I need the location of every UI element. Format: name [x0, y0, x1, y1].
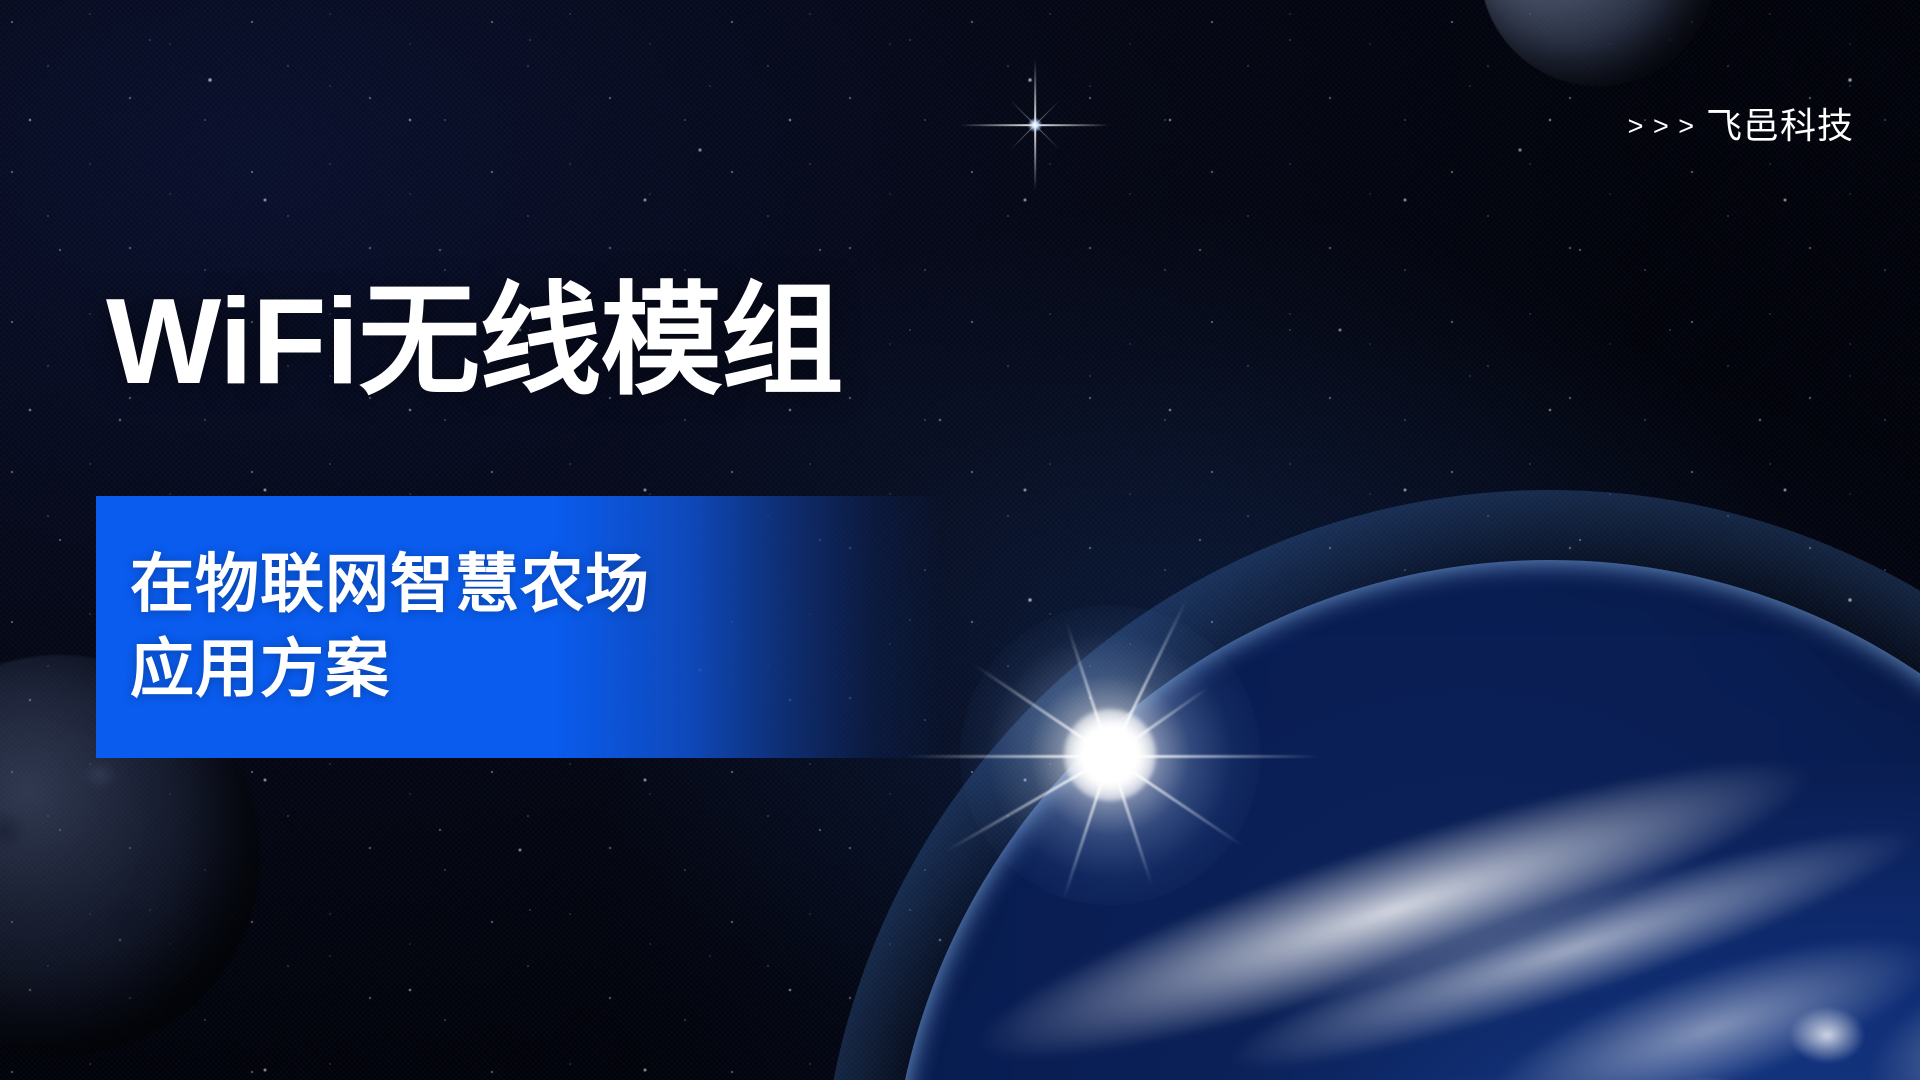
chevron-right-icon: > > >	[1628, 113, 1695, 140]
subtitle-line-1: 在物联网智慧农场	[130, 552, 942, 617]
hero-banner: > > > 飞邑科技 WiFi无线模组 在物联网智慧农场 应用方案	[0, 0, 1920, 1080]
subtitle-panel: 在物联网智慧农场 应用方案	[96, 496, 942, 758]
subtitle-line-2: 应用方案	[130, 637, 942, 702]
page-title: WiFi无线模组	[106, 280, 842, 402]
brand-name: 飞邑科技	[1706, 108, 1854, 144]
brand-logo[interactable]: > > > 飞邑科技	[1628, 108, 1854, 144]
